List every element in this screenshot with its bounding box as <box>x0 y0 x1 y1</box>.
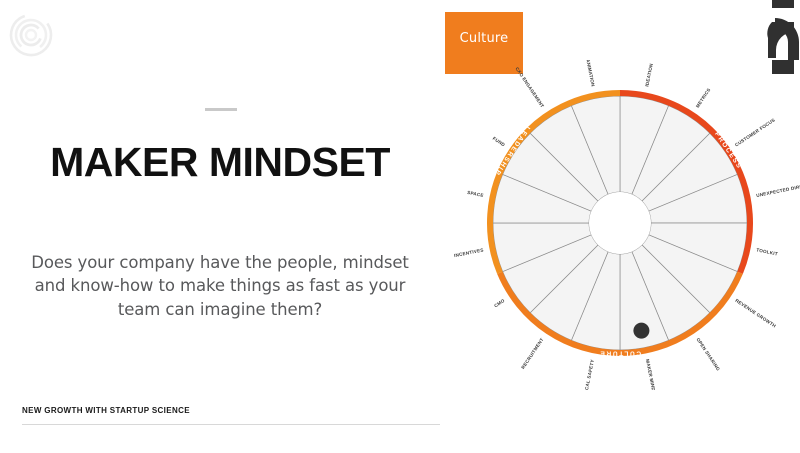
concentric-spiral-logo-icon <box>8 12 54 58</box>
slide-canvas: MAKER MINDSET Does your company have the… <box>0 0 800 453</box>
page-title: MAKER MINDSET <box>0 141 440 184</box>
wheel-spoke-label-unexpected-directions: UNEXPECTED DIRECTIONS <box>756 180 800 198</box>
wheel-spoke-label-ideation: IDEATION <box>644 63 654 88</box>
wheel-spoke-label-cmo: CMO <box>493 298 505 309</box>
wheel-spoke-label-revenue-growth: REVENUE GROWTH <box>734 298 777 329</box>
wheel-spoke-label-maker-mindset: MAKER MINDSET <box>645 359 658 390</box>
wheel-spoke-label-metrics: METRICS <box>695 87 712 108</box>
wheel-spoke-label-incentives: INCENTIVES <box>454 247 484 258</box>
wheel-spoke-label-cxo-engagement: CXO ENGAGEMENT <box>514 66 545 108</box>
wheel-spoke-label-toolkit: TOOLKIT <box>756 247 778 256</box>
wheel-hub <box>589 192 651 254</box>
wheel-spoke-label-portfolio-animation: PORTFOLIO ANIMATION <box>579 60 595 88</box>
title-divider-rule <box>205 108 237 111</box>
wheel-spoke-label-open-sharing: OPEN SHARING <box>695 337 721 372</box>
wheel-spoke-label-psychological-safety: PSYCHOLOGICAL SAFETY <box>578 359 595 390</box>
wheel-score-marker[interactable] <box>633 323 649 339</box>
innovation-wheel-chart: IDEATIONMETRICSCUSTOMER FOCUSUNEXPECTED … <box>440 60 800 390</box>
wheel-spoke-label-space: SPACE <box>467 190 484 198</box>
wheel-spoke-label-fund: FUND <box>492 136 507 148</box>
culture-badge-label: Culture <box>445 31 523 46</box>
wheel-score-markers-group <box>633 323 649 339</box>
subtitle-question: Does your company have the people, minds… <box>28 251 412 323</box>
wheel-arc-label-culture: CULTURE <box>599 350 641 357</box>
footer-divider-rule <box>22 424 440 425</box>
left-content-panel: MAKER MINDSET Does your company have the… <box>0 0 440 453</box>
innovation-wheel-svg: IDEATIONMETRICSCUSTOMER FOCUSUNEXPECTED … <box>440 60 800 390</box>
wheel-spoke-label-customer-focus: CUSTOMER FOCUS <box>734 117 776 147</box>
footer-label: NEW GROWTH WITH STARTUP SCIENCE <box>22 406 190 415</box>
wheel-spoke-label-recruitment: RECRUITMENT <box>520 337 544 370</box>
right-diagram-panel: Culture IDEATIONMETRICSCUSTOMER FOCUSUNE… <box>440 0 800 453</box>
